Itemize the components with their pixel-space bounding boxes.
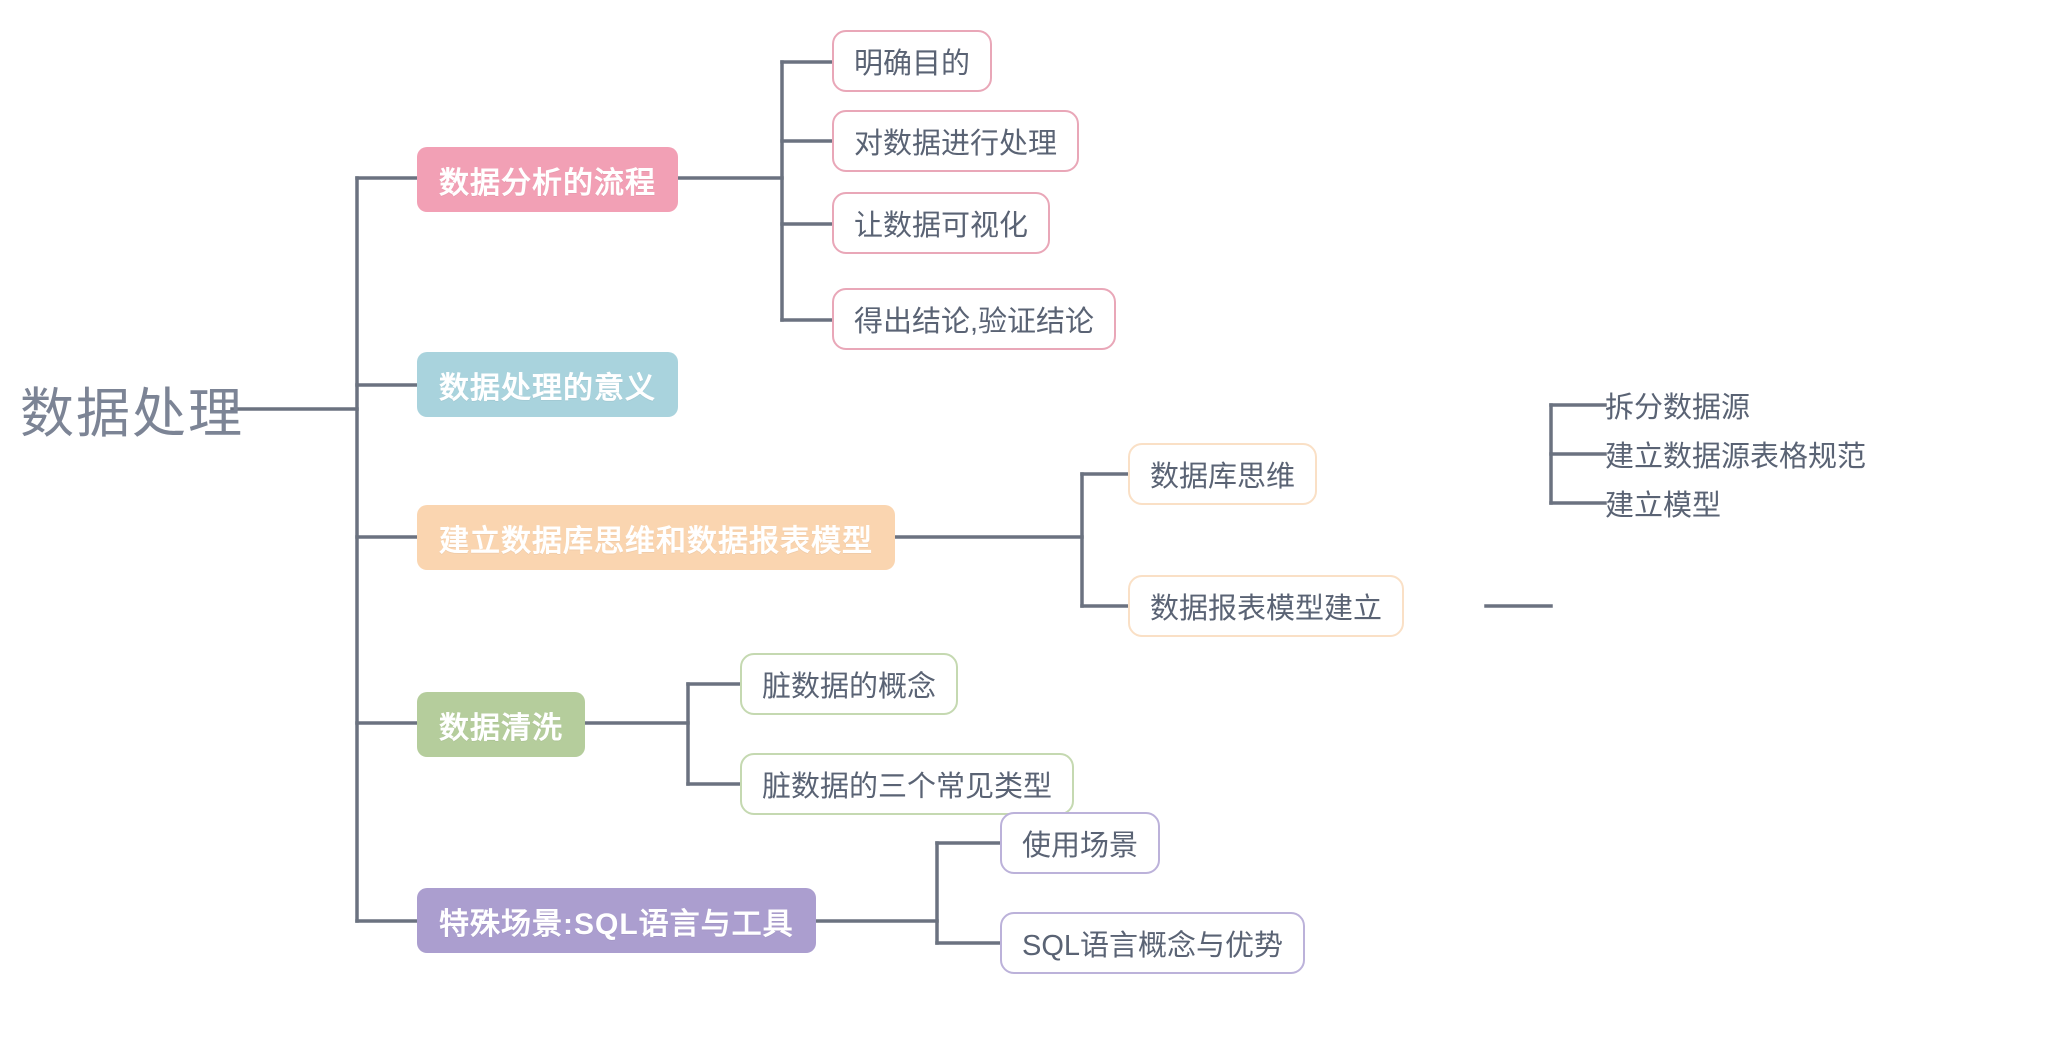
branch-data-analysis-flow[interactable]: 数据分析的流程 bbox=[417, 147, 678, 212]
branch-db-thinking-report-model[interactable]: 建立数据库思维和数据报表模型 bbox=[417, 505, 895, 570]
leaf-dirty-data-concept[interactable]: 脏数据的概念 bbox=[740, 653, 958, 715]
branch-data-cleaning[interactable]: 数据清洗 bbox=[417, 692, 585, 757]
leaf-clarify-purpose[interactable]: 明确目的 bbox=[832, 30, 992, 92]
branch-sql-special-scenario[interactable]: 特殊场景:SQL语言与工具 bbox=[417, 888, 816, 953]
leaf-label: 数据报表模型建立 bbox=[1150, 585, 1382, 627]
leaf-label: 对数据进行处理 bbox=[854, 120, 1057, 162]
plain-split-datasource[interactable]: 拆分数据源 bbox=[1605, 383, 1750, 427]
leaf-database-thinking[interactable]: 数据库思维 bbox=[1128, 443, 1317, 505]
leaf-process-data[interactable]: 对数据进行处理 bbox=[832, 110, 1079, 172]
branch-meaning-of-processing[interactable]: 数据处理的意义 bbox=[417, 352, 678, 417]
leaf-sql-concept-advantages[interactable]: SQL语言概念与优势 bbox=[1000, 912, 1305, 974]
leaf-use-cases[interactable]: 使用场景 bbox=[1000, 812, 1160, 874]
branch-label: 特殊场景:SQL语言与工具 bbox=[439, 899, 794, 943]
plain-datasource-spec[interactable]: 建立数据源表格规范 bbox=[1605, 432, 1866, 476]
leaf-draw-verify-conclusion[interactable]: 得出结论,验证结论 bbox=[832, 288, 1116, 350]
leaf-label: SQL语言概念与优势 bbox=[1022, 922, 1283, 964]
leaf-dirty-data-types[interactable]: 脏数据的三个常见类型 bbox=[740, 753, 1074, 815]
mindmap-canvas: 数据处理 数据分析的流程 明确目的 对数据进行处理 让数据可视化 得出结论,验证… bbox=[0, 0, 2064, 1050]
plain-label: 建立数据源表格规范 bbox=[1605, 433, 1866, 475]
leaf-label: 让数据可视化 bbox=[854, 202, 1028, 244]
leaf-label: 明确目的 bbox=[854, 40, 970, 82]
leaf-label: 脏数据的概念 bbox=[762, 663, 936, 705]
root-node[interactable]: 数据处理 bbox=[20, 373, 230, 443]
plain-build-model[interactable]: 建立模型 bbox=[1605, 481, 1721, 525]
branch-label: 数据分析的流程 bbox=[439, 158, 656, 202]
leaf-visualize-data[interactable]: 让数据可视化 bbox=[832, 192, 1050, 254]
branch-label: 数据清洗 bbox=[439, 703, 563, 747]
branch-label: 建立数据库思维和数据报表模型 bbox=[439, 516, 873, 560]
plain-label: 拆分数据源 bbox=[1605, 384, 1750, 426]
branch-label: 数据处理的意义 bbox=[439, 363, 656, 407]
plain-label: 建立模型 bbox=[1605, 482, 1721, 524]
leaf-label: 脏数据的三个常见类型 bbox=[762, 763, 1052, 805]
leaf-label: 数据库思维 bbox=[1150, 453, 1295, 495]
leaf-label: 使用场景 bbox=[1022, 822, 1138, 864]
leaf-report-model-build[interactable]: 数据报表模型建立 bbox=[1128, 575, 1404, 637]
root-node-label: 数据处理 bbox=[20, 369, 244, 448]
leaf-label: 得出结论,验证结论 bbox=[854, 298, 1094, 340]
